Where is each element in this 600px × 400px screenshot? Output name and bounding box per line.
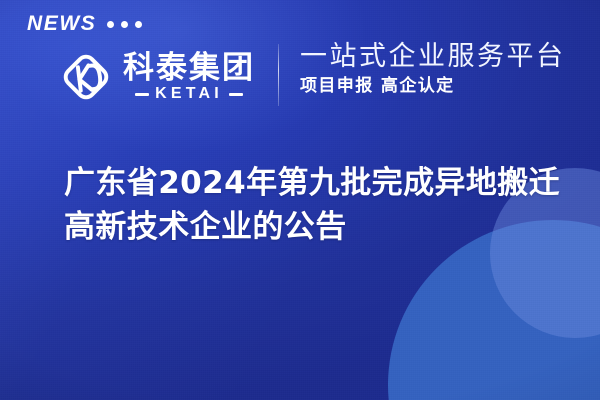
- tagline-main: 一站式企业服务平台: [300, 42, 566, 73]
- eyebrow-label: NEWS: [27, 13, 96, 34]
- tagline-sub: 项目申报 高企认定: [300, 76, 566, 96]
- brand-name-cn: 科泰集团: [123, 52, 255, 84]
- ketai-diamond-kd-logo-icon: [58, 49, 114, 105]
- rule-right-icon: [229, 93, 243, 96]
- dot-icon: [107, 21, 114, 28]
- brand-lockup: 科泰集团 KETAI: [58, 43, 255, 111]
- brand-wordmark: 科泰集团 KETAI: [123, 52, 255, 102]
- brand-name-en-row: KETAI: [135, 86, 243, 102]
- dot-icon: [121, 21, 128, 28]
- tagline: 一站式企业服务平台 项目申报 高企认定: [300, 42, 566, 96]
- rule-left-icon: [135, 93, 149, 96]
- eyebrow: NEWS: [27, 13, 142, 34]
- eyebrow-dots: [107, 19, 142, 28]
- brand-name-en: KETAI: [155, 86, 223, 102]
- dot-icon: [135, 21, 142, 28]
- news-banner: NEWS 科泰集团 KETAI: [0, 0, 600, 400]
- page-title: 广东省2024年第九批完成异地搬迁高新技术企业的公告: [64, 161, 569, 249]
- brand-tagline-divider: [278, 44, 279, 106]
